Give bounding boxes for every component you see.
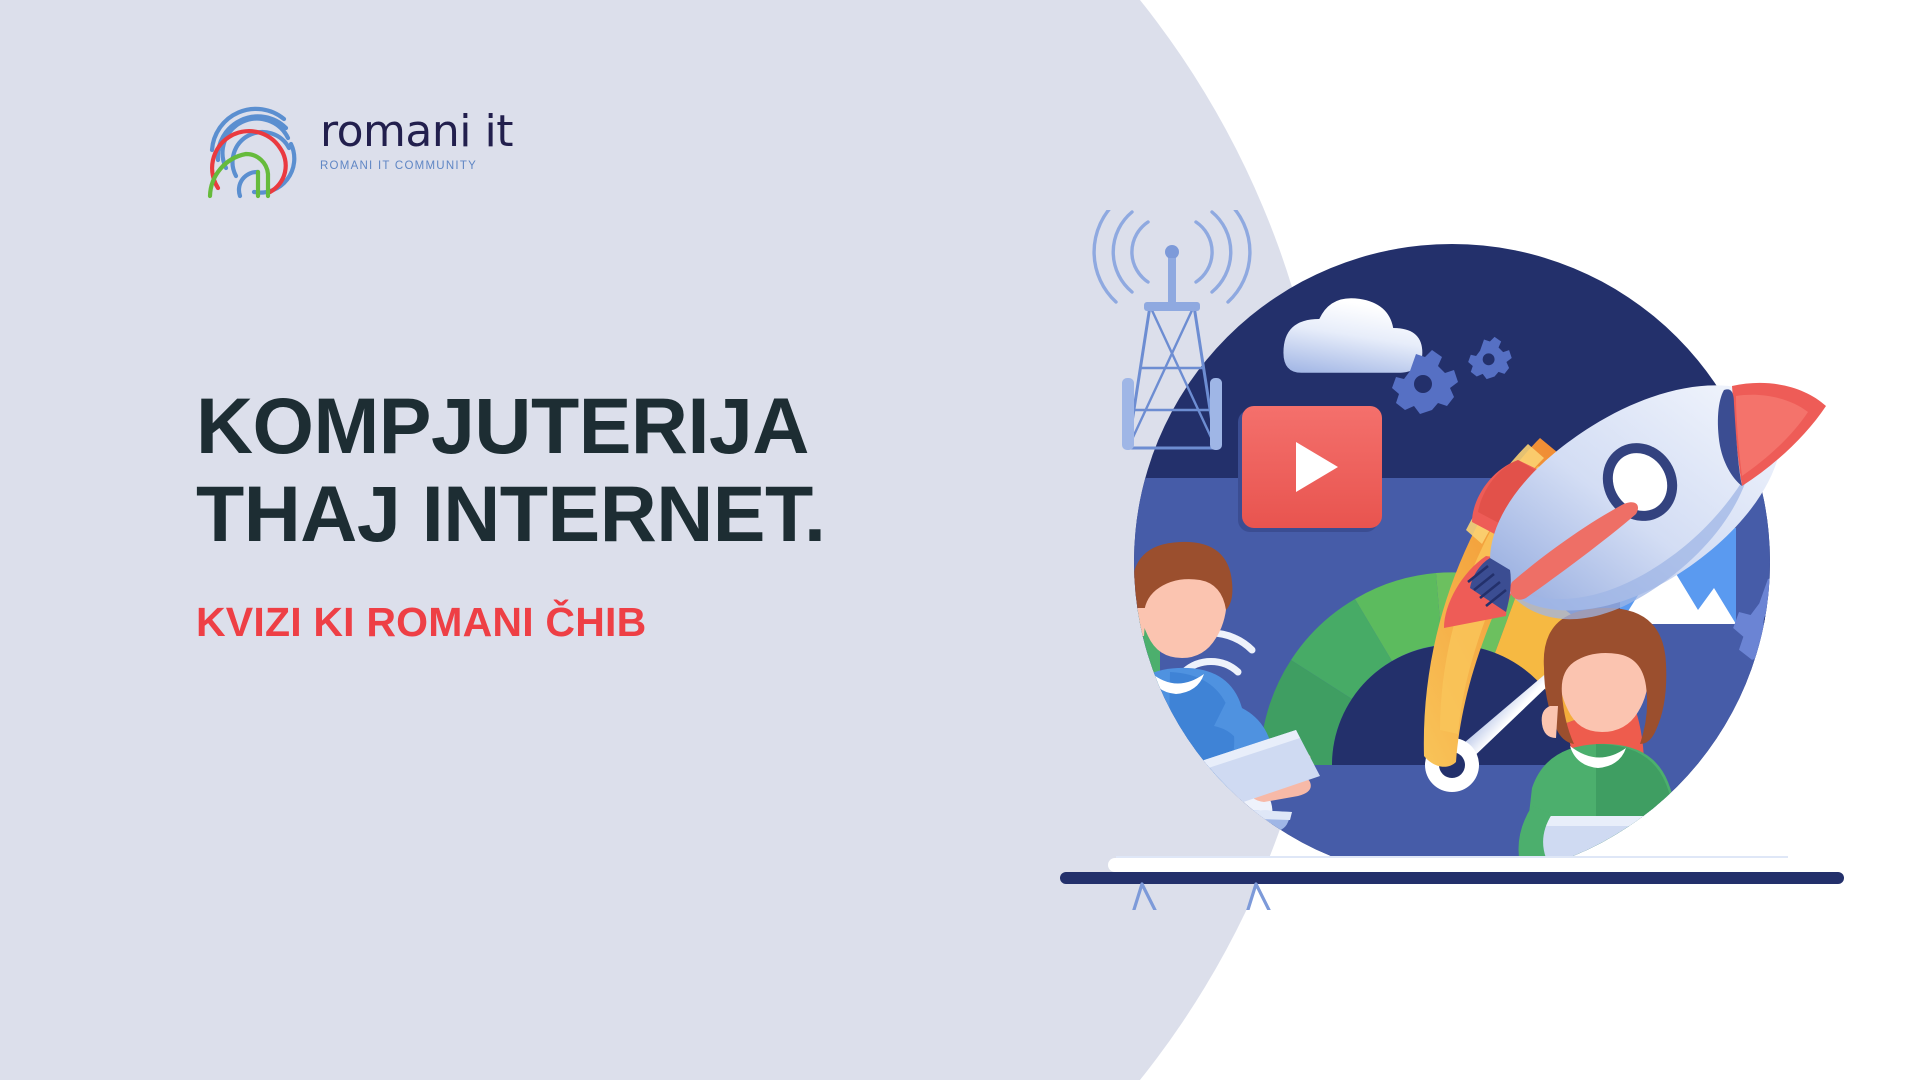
logo-tagline: ROMANI IT COMMUNITY bbox=[320, 160, 530, 172]
logo-wordmark: romani it bbox=[320, 110, 530, 154]
laptop-base bbox=[1060, 856, 1844, 910]
hero-illustration bbox=[1020, 210, 1920, 910]
page-subtitle: KVIZI KI ROMANI ČHIB bbox=[196, 599, 956, 646]
headline-block: KOMPJUTERIJA THAJ INTERNET. KVIZI KI ROM… bbox=[196, 382, 956, 646]
poster-canvas: romani it ROMANI IT COMMUNITY KOMPJUTERI… bbox=[0, 0, 1920, 1080]
wifi-signal-icon bbox=[1738, 787, 1810, 860]
chat-bubble-icon bbox=[1700, 762, 1860, 870]
brand-logo[interactable]: romani it ROMANI IT COMMUNITY bbox=[196, 96, 526, 200]
fingerprint-icon bbox=[196, 96, 314, 200]
chat-bubble-icon bbox=[1020, 610, 1160, 720]
gear-icon bbox=[1028, 765, 1127, 861]
play-button-icon bbox=[1238, 406, 1382, 532]
envelope-icon bbox=[1406, 882, 1536, 910]
page-title: KOMPJUTERIJA THAJ INTERNET. bbox=[196, 382, 956, 559]
